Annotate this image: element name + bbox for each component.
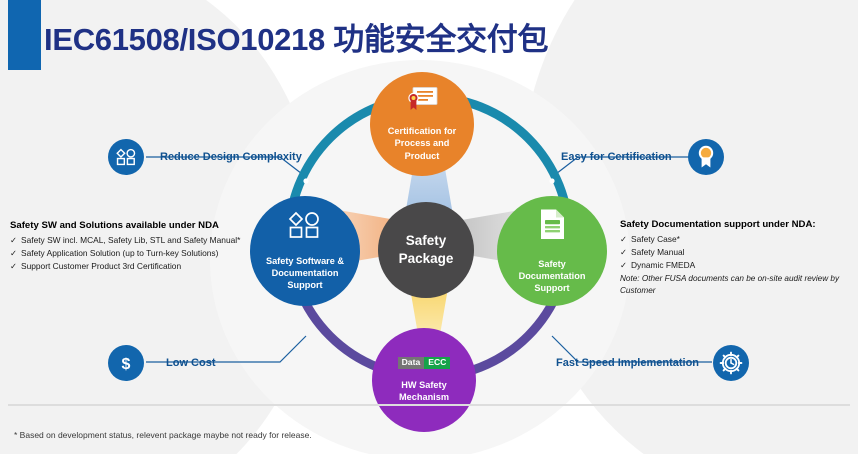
shapes-icon (108, 139, 144, 175)
check-icon: ✓ (10, 234, 21, 247)
right-block-heading: Safety Documentation support under NDA: (620, 219, 850, 230)
shapes-icon (288, 211, 322, 239)
diagram-node-hw-safety-mechanism[interactable]: Data ECC HW Safety Mechanism (372, 328, 476, 432)
left-block-item: ✓Safety SW incl. MCAL, Safety Lib, STL a… (10, 234, 240, 247)
node-label: Certification for Process and Product (388, 125, 456, 161)
right-block-item: ✓Safety Manual (620, 246, 850, 259)
check-icon: ✓ (620, 259, 631, 272)
left-block-heading: Safety SW and Solutions available under … (10, 220, 240, 231)
node-label: HW Safety Mechanism (399, 379, 449, 403)
right-block-note: Note: Other FUSA documents can be on-sit… (620, 273, 850, 297)
award-ribbon-icon (688, 139, 724, 175)
dollar-icon: $ (108, 345, 144, 381)
gear-clock-icon (713, 345, 749, 381)
node-label: Safety Documentation Support (519, 258, 586, 294)
data-ecc-chips: Data ECC (398, 357, 451, 369)
check-icon: ✓ (620, 246, 631, 259)
feature-reduce-design-complexity[interactable]: Reduce Design Complexity (108, 139, 302, 175)
footer-divider (8, 404, 850, 406)
left-block-item: ✓Safety Application Solution (up to Turn… (10, 247, 240, 260)
check-icon: ✓ (10, 247, 21, 260)
diagram-node-certification[interactable]: Certification for Process and Product (370, 72, 474, 176)
left-info-block: Safety SW and Solutions available under … (10, 220, 240, 273)
center-label: Safety Package (399, 232, 454, 268)
diagram-node-safety-software-documentation-support[interactable]: Safety Software & Documentation Support (250, 196, 360, 306)
diagram-node-safety-documentation-support[interactable]: Safety Documentation Support (497, 196, 607, 306)
left-block-item: ✓Support Customer Product 3rd Certificat… (10, 260, 240, 273)
right-info-block: Safety Documentation support under NDA: … (620, 219, 850, 297)
feature-label: Low Cost (166, 357, 216, 369)
right-block-item: ✓Dynamic FMEDA (620, 259, 850, 272)
feature-label: Reduce Design Complexity (160, 151, 302, 163)
footer-note: * Based on development status, relevent … (14, 430, 312, 440)
svg-text:$: $ (122, 356, 131, 373)
check-icon: ✓ (10, 260, 21, 273)
check-icon: ✓ (620, 233, 631, 246)
feature-low-cost[interactable]: $ Low Cost (108, 345, 216, 381)
feature-label: Fast Speed Implementation (556, 357, 699, 369)
feature-label: Easy for Certification (561, 151, 672, 163)
feature-fast-speed-implementation[interactable]: Fast Speed Implementation (556, 345, 749, 381)
document-icon (537, 208, 567, 241)
node-label: Safety Software & Documentation Support (266, 255, 344, 291)
diagram-center-safety-package[interactable]: Safety Package (378, 202, 474, 298)
right-block-item: ✓Safety Case* (620, 233, 850, 246)
certificate-icon (405, 86, 439, 113)
chip-data: Data (398, 357, 425, 369)
feature-easy-for-certification[interactable]: Easy for Certification (561, 139, 724, 175)
slide-canvas: IEC61508/ISO10218 功能安全交付包 (0, 0, 858, 454)
chip-ecc: ECC (424, 357, 450, 369)
